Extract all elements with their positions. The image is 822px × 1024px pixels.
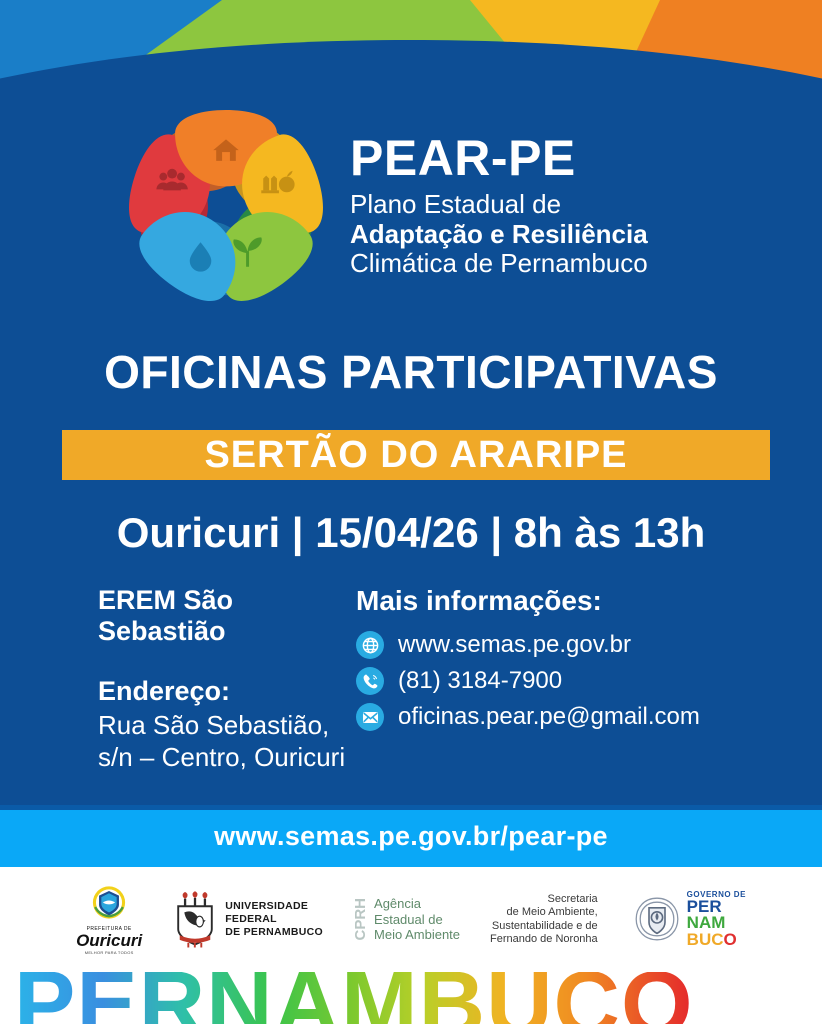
address-line-1: Rua São Sebastião, bbox=[98, 709, 350, 742]
ufpe-crest-icon bbox=[172, 891, 218, 949]
ouricuri-name: Ouricuri bbox=[76, 932, 142, 949]
brand-subtitle-line-1: Plano Estadual de bbox=[350, 190, 648, 219]
event-when-line: Ouricuri | 15/04/26 | 8h às 13h bbox=[0, 509, 822, 557]
info-columns: EREM São Sebastião Endereço: Rua São Seb… bbox=[0, 585, 822, 774]
cprh-line-2: Estadual de bbox=[374, 912, 460, 928]
govpe-word-4: O bbox=[724, 930, 737, 949]
url-band[interactable]: www.semas.pe.gov.br/pear-pe bbox=[0, 805, 822, 867]
ouricuri-crest-icon bbox=[86, 884, 132, 924]
cprh-line-3: Meio Ambiente bbox=[374, 927, 460, 943]
logo-cprh: CPRH Agência Estadual de Meio Ambiente bbox=[353, 896, 460, 943]
url-band-text: www.semas.pe.gov.br/pear-pe bbox=[214, 821, 608, 852]
contact-row-email[interactable]: oficinas.pear.pe@gmail.com bbox=[356, 703, 790, 731]
venue-column: EREM São Sebastião Endereço: Rua São Seb… bbox=[0, 585, 350, 774]
ufpe-line-1: UNIVERSIDADE bbox=[225, 900, 323, 913]
globe-icon bbox=[356, 631, 384, 659]
url-band-edge bbox=[0, 805, 822, 810]
region-banner: SERTÃO DO ARARIPE bbox=[62, 430, 770, 480]
contact-row-phone[interactable]: (81) 3184-7900 bbox=[356, 667, 790, 695]
cprh-mark: CPRH bbox=[353, 898, 368, 941]
phone-icon bbox=[356, 667, 384, 695]
semas-line-1: Secretaria bbox=[490, 893, 598, 906]
venue-name: EREM São Sebastião bbox=[98, 585, 350, 647]
pear-pe-flower-logo bbox=[128, 108, 324, 304]
logo-prefeitura-ouricuri: PREFEITURA DE Ouricuri MELHOR PARA TODOS bbox=[76, 884, 142, 955]
ufpe-line-3: DE PERNAMBUCO bbox=[225, 926, 323, 939]
region-banner-text: SERTÃO DO ARARIPE bbox=[204, 436, 627, 474]
brand-subtitle-line-3: Climática de Pernambuco bbox=[350, 249, 648, 278]
governo-pe-crest-icon bbox=[633, 895, 681, 943]
poster-root: PEAR-PE Plano Estadual de Adaptação e Re… bbox=[0, 0, 822, 1024]
brand-logo-block: PEAR-PE Plano Estadual de Adaptação e Re… bbox=[0, 96, 822, 316]
semas-line-2: de Meio Ambiente, bbox=[490, 906, 598, 919]
footer-logo-row: PREFEITURA DE Ouricuri MELHOR PARA TODOS bbox=[0, 867, 822, 972]
logo-ufpe: UNIVERSIDADE FEDERAL DE PERNAMBUCO bbox=[172, 891, 323, 949]
semas-line-3: Sustentabilidade e de bbox=[490, 920, 598, 933]
website-text: www.semas.pe.gov.br bbox=[398, 631, 631, 659]
contact-row-website[interactable]: www.semas.pe.gov.br bbox=[356, 631, 790, 659]
ouricuri-sub: MELHOR PARA TODOS bbox=[85, 950, 134, 955]
brand-subtitle-line-2: Adaptação e Resiliência bbox=[350, 220, 648, 249]
ufpe-line-2: FEDERAL bbox=[225, 913, 323, 926]
bottom-rainbow-strip: PERNAMBUCO bbox=[0, 972, 822, 1024]
address-label: Endereço: bbox=[98, 675, 350, 709]
semas-line-4: Fernando de Noronha bbox=[490, 933, 598, 946]
cprh-line-1: Agência bbox=[374, 896, 460, 912]
brand-title: PEAR-PE bbox=[350, 133, 648, 183]
envelope-icon bbox=[356, 703, 384, 731]
phone-text: (81) 3184-7900 bbox=[398, 667, 562, 695]
address-line-2: s/n – Centro, Ouricuri bbox=[98, 741, 350, 774]
govpe-word-3-text: BUC bbox=[687, 930, 724, 949]
bottom-rainbow-word: PERNAMBUCO bbox=[14, 972, 694, 1024]
headline: OFICINAS PARTICIPATIVAS bbox=[0, 345, 822, 399]
govpe-word-3: BUCO bbox=[687, 932, 746, 948]
contact-heading: Mais informações: bbox=[356, 585, 790, 617]
contact-column: Mais informações: www.semas.pe.gov.br bbox=[350, 585, 790, 774]
logo-semas: Secretaria de Meio Ambiente, Sustentabil… bbox=[490, 893, 603, 947]
logo-governo-pernambuco: GOVERNO DE PER NAM BUCO bbox=[633, 891, 746, 947]
email-text: oficinas.pear.pe@gmail.com bbox=[398, 703, 700, 731]
